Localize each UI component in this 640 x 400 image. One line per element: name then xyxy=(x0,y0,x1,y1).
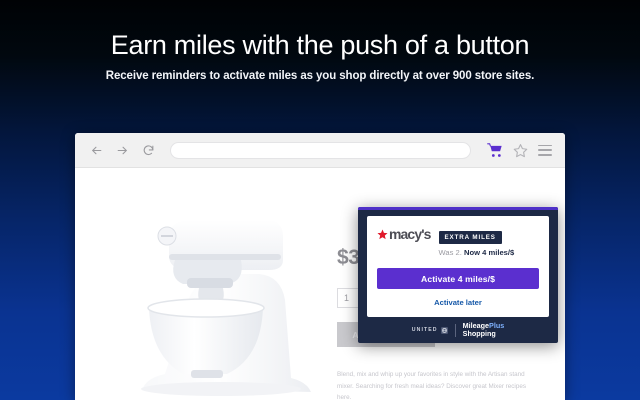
back-arrow-icon[interactable] xyxy=(88,142,105,159)
browser-toolbar xyxy=(75,133,565,168)
url-input[interactable] xyxy=(170,142,471,159)
popup-card: macy's EXTRA MILES Was 2. Now 4 miles/$ … xyxy=(367,216,549,317)
united-wordmark: UNITED xyxy=(412,327,438,333)
footer-divider xyxy=(455,324,456,337)
popup-footer: UNITED MileagePlus Shopping xyxy=(367,317,549,343)
popup-accent-bar xyxy=(358,207,558,210)
reload-icon[interactable] xyxy=(140,142,157,159)
star-icon[interactable] xyxy=(513,143,528,158)
hero-section: Earn miles with the push of a button Rec… xyxy=(0,0,640,82)
rate-current: Now 4 miles/$ xyxy=(464,248,514,257)
browser-window: $3 ADD TO CART Blend, mix and whip up yo… xyxy=(75,133,565,400)
star-icon xyxy=(377,229,388,240)
macys-logo: macy's xyxy=(377,225,431,241)
product-description: Blend, mix and whip up your favorites in… xyxy=(337,369,527,400)
activate-button[interactable]: Activate 4 miles/$ xyxy=(377,268,539,289)
page-subtitle: Receive reminders to activate miles as y… xyxy=(0,70,640,82)
activate-later-link[interactable]: Activate later xyxy=(377,298,539,307)
page-title: Earn miles with the push of a button xyxy=(0,31,640,59)
offer-header: macy's EXTRA MILES Was 2. Now 4 miles/$ xyxy=(377,225,539,257)
shopping-cart-icon[interactable] xyxy=(487,143,503,158)
product-image-stand-mixer xyxy=(113,192,331,400)
rate-previous: Was 2. xyxy=(439,248,462,257)
product-page: $3 ADD TO CART Blend, mix and whip up yo… xyxy=(75,168,565,400)
shopping-text: Shopping xyxy=(463,330,505,338)
rate-line: Was 2. Now 4 miles/$ xyxy=(439,249,515,257)
status-badge: EXTRA MILES xyxy=(439,231,502,244)
toolbar-actions xyxy=(485,143,552,158)
offer-rate-block: EXTRA MILES Was 2. Now 4 miles/$ xyxy=(439,225,515,257)
mileageplus-shopping-logo: MileagePlus Shopping xyxy=(463,322,505,338)
extension-popup: macy's EXTRA MILES Was 2. Now 4 miles/$ … xyxy=(358,207,558,343)
hamburger-menu-icon[interactable] xyxy=(538,145,552,156)
globe-icon xyxy=(441,327,448,334)
united-logo: UNITED xyxy=(412,327,448,334)
macys-wordmark: macy's xyxy=(389,227,431,241)
forward-arrow-icon[interactable] xyxy=(114,142,131,159)
